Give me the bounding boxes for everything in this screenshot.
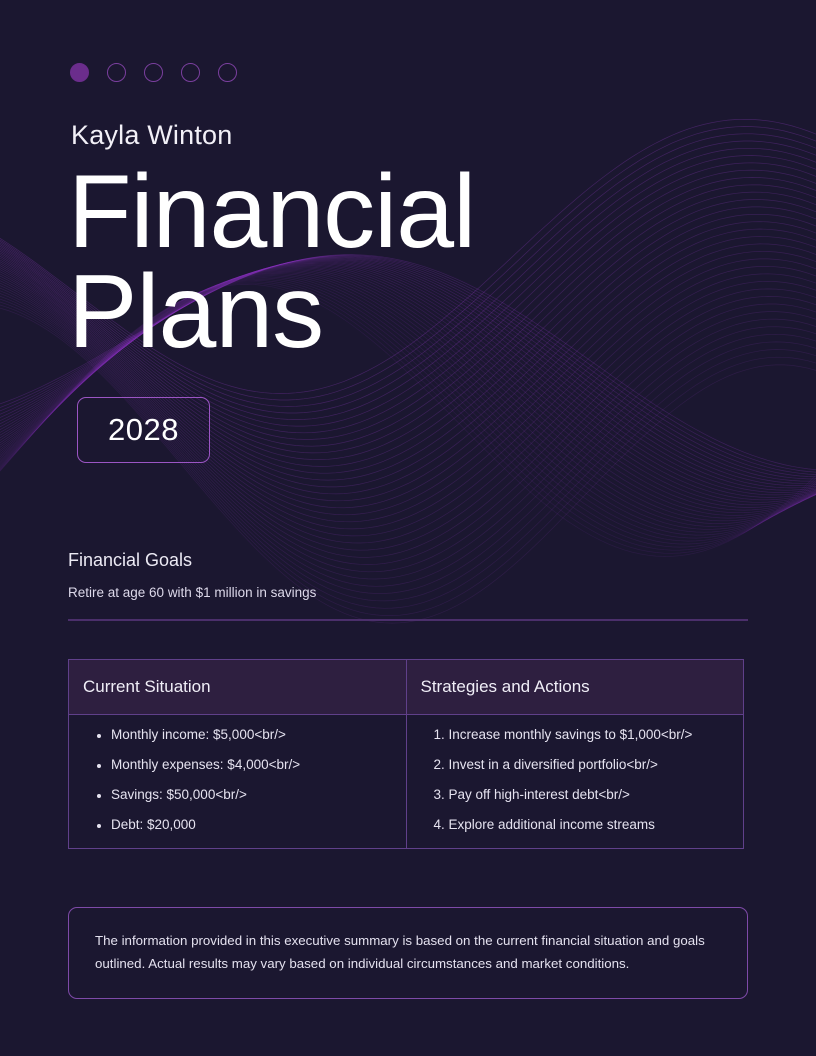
year-badge: 2028: [77, 397, 210, 463]
list-item: Savings: $50,000<br/>: [111, 787, 396, 804]
step-dots: [70, 63, 237, 82]
financial-goals-heading: Financial Goals: [68, 550, 748, 571]
list-item: Monthly expenses: $4,000<br/>: [111, 757, 396, 774]
dot-indicator-3[interactable]: [144, 63, 163, 82]
financial-goals-section: Financial Goals Retire at age 60 with $1…: [68, 550, 748, 600]
disclaimer-box: The information provided in this executi…: [68, 907, 748, 999]
list-item: Debt: $20,000: [111, 817, 396, 834]
author-name: Kayla Winton: [71, 120, 232, 151]
column-header-current-situation: Current Situation: [69, 660, 407, 715]
strategies-and-actions-list: Increase monthly savings to $1,000<br/>I…: [417, 727, 734, 834]
column-header-strategies-and-actions: Strategies and Actions: [406, 660, 744, 715]
dot-indicator-1[interactable]: [70, 63, 89, 82]
list-item: Explore additional income streams: [449, 817, 734, 834]
list-item: Monthly income: $5,000<br/>: [111, 727, 396, 744]
financial-plan-page: Kayla Winton Financial Plans 2028 Financ…: [0, 0, 816, 1056]
disclaimer-text: The information provided in this executi…: [95, 929, 722, 976]
dot-indicator-2[interactable]: [107, 63, 126, 82]
year-label: 2028: [108, 412, 179, 448]
financial-goals-text: Retire at age 60 with $1 million in savi…: [68, 585, 748, 600]
section-divider: [68, 619, 748, 621]
page-title: Financial Plans: [68, 163, 628, 363]
list-item: Pay off high-interest debt<br/>: [449, 787, 734, 804]
list-item: Invest in a diversified portfolio<br/>: [449, 757, 734, 774]
situation-strategies-table: Current Situation Strategies and Actions…: [68, 659, 744, 849]
list-item: Increase monthly savings to $1,000<br/>: [449, 727, 734, 744]
dot-indicator-4[interactable]: [181, 63, 200, 82]
cell-current-situation: Monthly income: $5,000<br/>Monthly expen…: [69, 715, 407, 849]
table-header-row: Current Situation Strategies and Actions: [69, 660, 744, 715]
dot-indicator-5[interactable]: [218, 63, 237, 82]
cell-strategies-and-actions: Increase monthly savings to $1,000<br/>I…: [406, 715, 744, 849]
table-row: Monthly income: $5,000<br/>Monthly expen…: [69, 715, 744, 849]
current-situation-list: Monthly income: $5,000<br/>Monthly expen…: [79, 727, 396, 834]
